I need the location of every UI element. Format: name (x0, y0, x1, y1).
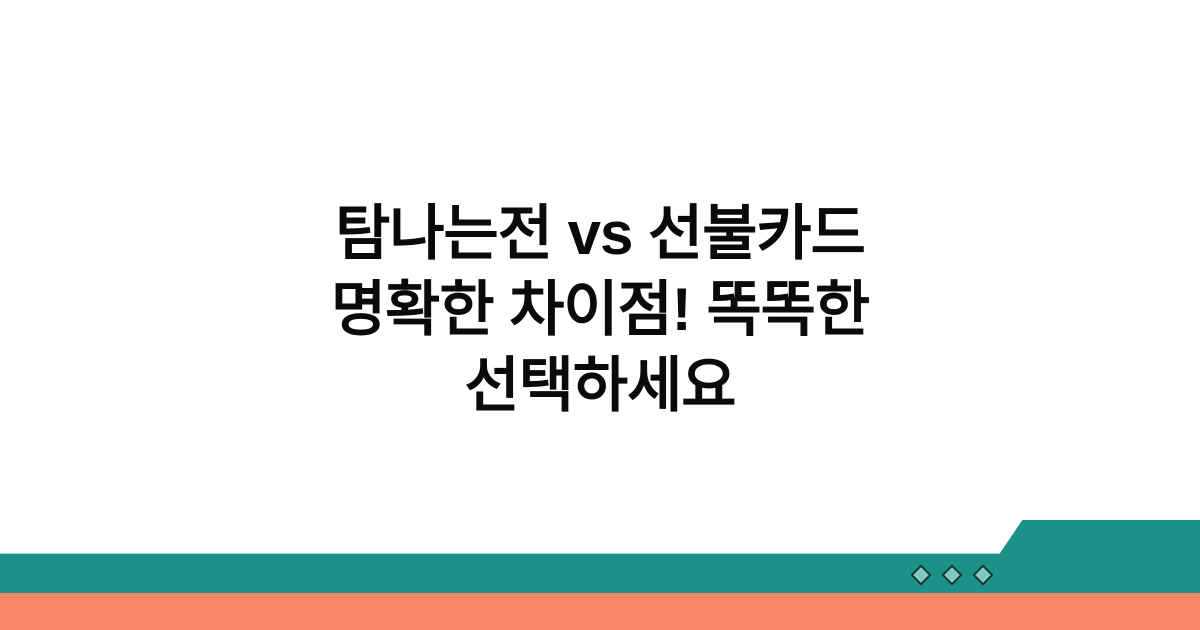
title-line-1: 탐나는전 vs 선불카드 (120, 196, 1080, 272)
orange-band (0, 593, 1200, 630)
page-title: 탐나는전 vs 선불카드 명확한 차이점! 똑똑한 선택하세요 (0, 196, 1200, 424)
bottom-decoration (0, 520, 1200, 630)
thumbnail-card: 탐나는전 vs 선불카드 명확한 차이점! 똑똑한 선택하세요 (0, 0, 1200, 630)
title-line-3: 선택하세요 (120, 348, 1080, 424)
teal-band (0, 520, 1200, 593)
diamond-icon-2 (941, 564, 963, 586)
diamond-ornament-row (910, 557, 994, 593)
diamond-icon-1 (910, 564, 932, 586)
title-line-2: 명확한 차이점! 똑똑한 (120, 272, 1080, 348)
diamond-icon-3 (972, 564, 994, 586)
